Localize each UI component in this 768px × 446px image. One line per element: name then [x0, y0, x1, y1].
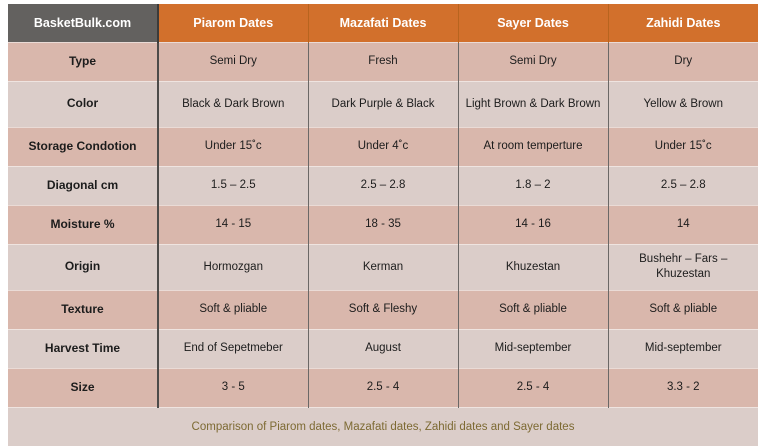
cell-size-mazafati: 2.5 - 4 [308, 368, 458, 407]
cell-storage-mazafati: Under 4˚c [308, 127, 458, 166]
row-label-origin: Origin [8, 244, 158, 290]
row-label-color: Color [8, 81, 158, 127]
cell-harvest-piarom: End of Sepetmeber [158, 329, 308, 368]
cell-storage-zahidi: Under 15˚c [608, 127, 758, 166]
cell-storage-sayer: At room temperture [458, 127, 608, 166]
cell-moisture-mazafati: 18 - 35 [308, 205, 458, 244]
column-header-zahidi: Zahidi Dates [608, 4, 758, 42]
cell-texture-zahidi: Soft & pliable [608, 290, 758, 329]
table-row: Diagonal cm 1.5 – 2.5 2.5 – 2.8 1.8 – 2 … [8, 166, 758, 205]
cell-size-piarom: 3 - 5 [158, 368, 308, 407]
cell-moisture-zahidi: 14 [608, 205, 758, 244]
row-label-moisture: Moisture % [8, 205, 158, 244]
table-body: Type Semi Dry Fresh Semi Dry Dry Color B… [8, 42, 758, 407]
table-row: Size 3 - 5 2.5 - 4 2.5 - 4 3.3 - 2 [8, 368, 758, 407]
table-row: Harvest Time End of Sepetmeber August Mi… [8, 329, 758, 368]
column-header-sayer: Sayer Dates [458, 4, 608, 42]
row-label-texture: Texture [8, 290, 158, 329]
row-label-harvest-time: Harvest Time [8, 329, 158, 368]
row-label-size: Size [8, 368, 158, 407]
cell-harvest-sayer: Mid-september [458, 329, 608, 368]
row-label-storage-condition: Storage Condotion [8, 127, 158, 166]
table-row: Origin Hormozgan Kerman Khuzestan Busheh… [8, 244, 758, 290]
cell-origin-mazafati: Kerman [308, 244, 458, 290]
cell-diagonal-piarom: 1.5 – 2.5 [158, 166, 308, 205]
cell-moisture-piarom: 14 - 15 [158, 205, 308, 244]
cell-type-piarom: Semi Dry [158, 42, 308, 81]
cell-harvest-mazafati: August [308, 329, 458, 368]
cell-type-sayer: Semi Dry [458, 42, 608, 81]
cell-size-zahidi: 3.3 - 2 [608, 368, 758, 407]
caption-row: Comparison of Piarom dates, Mazafati dat… [8, 407, 758, 446]
brand-header-cell: BasketBulk.com [8, 4, 158, 42]
column-header-mazafati: Mazafati Dates [308, 4, 458, 42]
table-row: Moisture % 14 - 15 18 - 35 14 - 16 14 [8, 205, 758, 244]
cell-origin-sayer: Khuzestan [458, 244, 608, 290]
cell-diagonal-mazafati: 2.5 – 2.8 [308, 166, 458, 205]
comparison-table-container: BasketBulk.com Piarom Dates Mazafati Dat… [8, 4, 758, 430]
table-caption: Comparison of Piarom dates, Mazafati dat… [8, 407, 758, 446]
table-header: BasketBulk.com Piarom Dates Mazafati Dat… [8, 4, 758, 42]
row-label-type: Type [8, 42, 158, 81]
row-label-diagonal-cm: Diagonal cm [8, 166, 158, 205]
cell-color-mazafati: Dark Purple & Black [308, 81, 458, 127]
table-row: Texture Soft & pliable Soft & Fleshy Sof… [8, 290, 758, 329]
cell-type-mazafati: Fresh [308, 42, 458, 81]
cell-color-zahidi: Yellow & Brown [608, 81, 758, 127]
cell-harvest-zahidi: Mid-september [608, 329, 758, 368]
cell-type-zahidi: Dry [608, 42, 758, 81]
table-row: Type Semi Dry Fresh Semi Dry Dry [8, 42, 758, 81]
table-row: Color Black & Dark Brown Dark Purple & B… [8, 81, 758, 127]
cell-origin-piarom: Hormozgan [158, 244, 308, 290]
date-comparison-table: BasketBulk.com Piarom Dates Mazafati Dat… [8, 4, 758, 446]
cell-diagonal-zahidi: 2.5 – 2.8 [608, 166, 758, 205]
cell-diagonal-sayer: 1.8 – 2 [458, 166, 608, 205]
cell-texture-mazafati: Soft & Fleshy [308, 290, 458, 329]
cell-storage-piarom: Under 15˚c [158, 127, 308, 166]
cell-color-sayer: Light Brown & Dark Brown [458, 81, 608, 127]
cell-color-piarom: Black & Dark Brown [158, 81, 308, 127]
cell-size-sayer: 2.5 - 4 [458, 368, 608, 407]
cell-moisture-sayer: 14 - 16 [458, 205, 608, 244]
cell-texture-piarom: Soft & pliable [158, 290, 308, 329]
cell-texture-sayer: Soft & pliable [458, 290, 608, 329]
column-header-piarom: Piarom Dates [158, 4, 308, 42]
cell-origin-zahidi: Bushehr – Fars – Khuzestan [608, 244, 758, 290]
header-row: BasketBulk.com Piarom Dates Mazafati Dat… [8, 4, 758, 42]
table-row: Storage Condotion Under 15˚c Under 4˚c A… [8, 127, 758, 166]
table-footer: Comparison of Piarom dates, Mazafati dat… [8, 407, 758, 446]
